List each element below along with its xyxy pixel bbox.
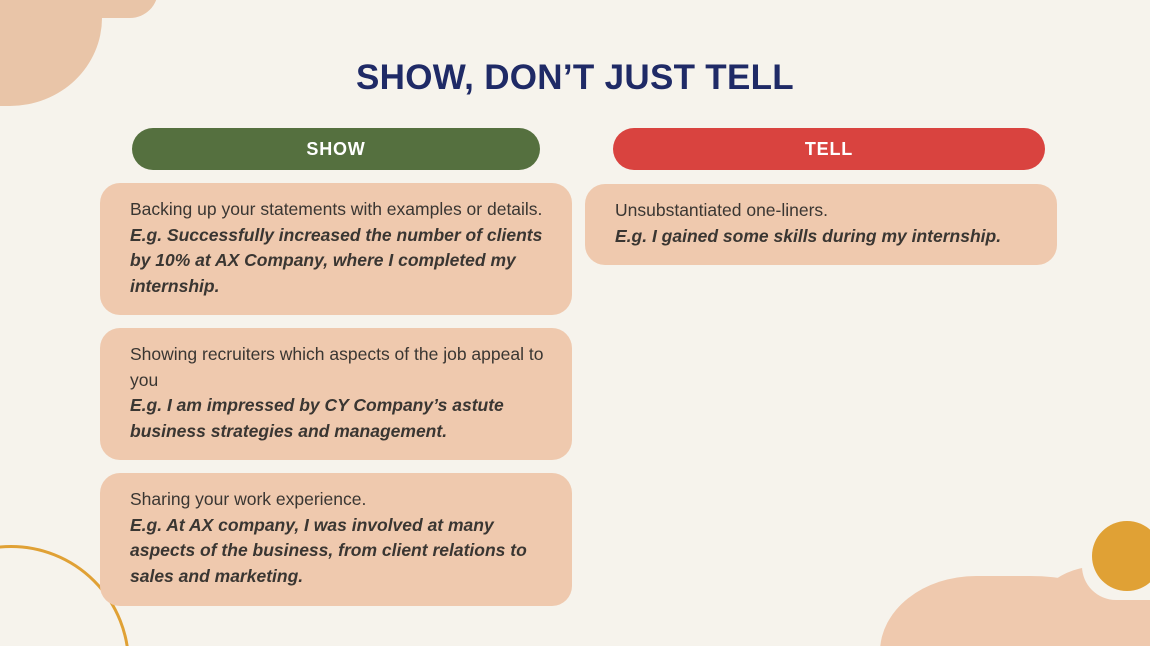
tell-header-pill: TELL [613, 128, 1045, 170]
show-card-2-example: E.g. I am impressed by CY Company’s astu… [130, 393, 550, 444]
show-card-3-example: E.g. At AX company, I was involved at ma… [130, 513, 550, 590]
tell-card-1-lead: Unsubstantiated one-liners. [615, 198, 1035, 224]
bottom-right-peach-blob-secondary-shape [1030, 566, 1150, 646]
show-card-2: Showing recruiters which aspects of the … [100, 328, 572, 460]
show-card-1: Backing up your statements with examples… [100, 183, 572, 315]
tell-column: TELL Unsubstantiated one-liners. E.g. I … [585, 128, 1057, 265]
slide-canvas: SHOW, DON’T JUST TELL SHOW Backing up yo… [0, 0, 1150, 646]
show-card-1-example: E.g. Successfully increased the number o… [130, 223, 550, 300]
show-header-label: SHOW [306, 139, 365, 160]
bottom-right-gold-circle-shape [1092, 521, 1150, 591]
bottom-right-blob-notch-shape [1082, 566, 1150, 600]
show-card-1-lead: Backing up your statements with examples… [130, 197, 550, 223]
show-card-2-lead: Showing recruiters which aspects of the … [130, 342, 550, 393]
show-card-3: Sharing your work experience. E.g. At AX… [100, 473, 572, 605]
tell-card-1: Unsubstantiated one-liners. E.g. I gaine… [585, 184, 1057, 265]
show-header-pill: SHOW [132, 128, 540, 170]
show-card-3-lead: Sharing your work experience. [130, 487, 550, 513]
show-column: SHOW Backing up your statements with exa… [100, 128, 572, 606]
bottom-right-peach-blob-shape [880, 576, 1150, 646]
tell-card-1-example: E.g. I gained some skills during my inte… [615, 224, 1035, 250]
tell-header-label: TELL [805, 139, 853, 160]
slide-title: SHOW, DON’T JUST TELL [0, 58, 1150, 98]
top-left-peach-blob-tail-shape [28, 0, 158, 18]
